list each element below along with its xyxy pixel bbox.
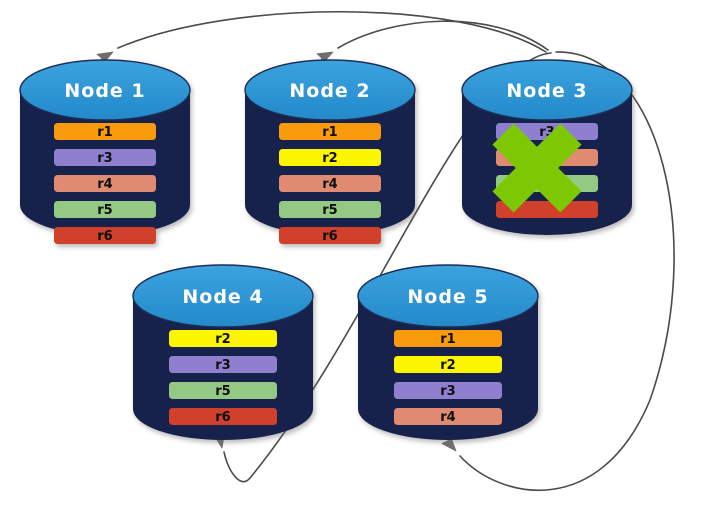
node-2[interactable]: Node 2r1r2r4r5r6: [245, 60, 415, 244]
node-1-replica-r5-label: r5: [97, 203, 112, 218]
node-5-replica-r1-label: r1: [440, 332, 455, 347]
arrow-node3-to-node1-line: [118, 12, 546, 52]
nodes-layer: Node 1r1r3r4r5r6Node 2r1r2r4r5r6Node 3r3…: [20, 60, 632, 440]
node-5-label: Node 5: [407, 286, 488, 308]
node-2-label: Node 2: [289, 80, 370, 102]
node-2-replica-r6-label: r6: [322, 229, 337, 244]
node-5-replica-r3-label: r3: [440, 384, 455, 399]
node-1-replica-r6-label: r6: [97, 229, 112, 244]
node-4-replica-r5-label: r5: [215, 384, 230, 399]
node-1-replica-r4-label: r4: [97, 177, 112, 192]
node-2-replica-r5-label: r5: [322, 203, 337, 218]
node-2-replica-r4-label: r4: [322, 177, 337, 192]
node-2-replica-r2-label: r2: [322, 151, 337, 166]
node-4-replica-r3-label: r3: [215, 358, 230, 373]
node-5[interactable]: Node 5r1r2r3r4: [358, 265, 538, 440]
diagram-svg: Node 1r1r3r4r5r6Node 2r1r2r4r5r6Node 3r3…: [0, 0, 708, 508]
arrow-node3-to-node2: [317, 21, 548, 64]
node-4[interactable]: Node 4r2r3r5r6: [133, 265, 313, 440]
node-2-replica-r1-label: r1: [322, 125, 337, 140]
node-3-label: Node 3: [506, 80, 587, 102]
node-4-replica-r2-label: r2: [215, 332, 230, 347]
node-1-label: Node 1: [64, 80, 145, 102]
arrow-node3-to-node2-line: [338, 21, 548, 50]
node-4-replica-r6-label: r6: [215, 410, 230, 425]
diagram-canvas: Node 1r1r3r4r5r6Node 2r1r2r4r5r6Node 3r3…: [0, 0, 708, 508]
node-1-replica-r1-label: r1: [97, 125, 112, 140]
node-5-replica-r2-label: r2: [440, 358, 455, 373]
node-5-replica-r4-label: r4: [440, 410, 455, 425]
node-1-replica-r3-label: r3: [97, 151, 112, 166]
node-1[interactable]: Node 1r1r3r4r5r6: [20, 60, 190, 244]
node-4-label: Node 4: [182, 286, 263, 308]
